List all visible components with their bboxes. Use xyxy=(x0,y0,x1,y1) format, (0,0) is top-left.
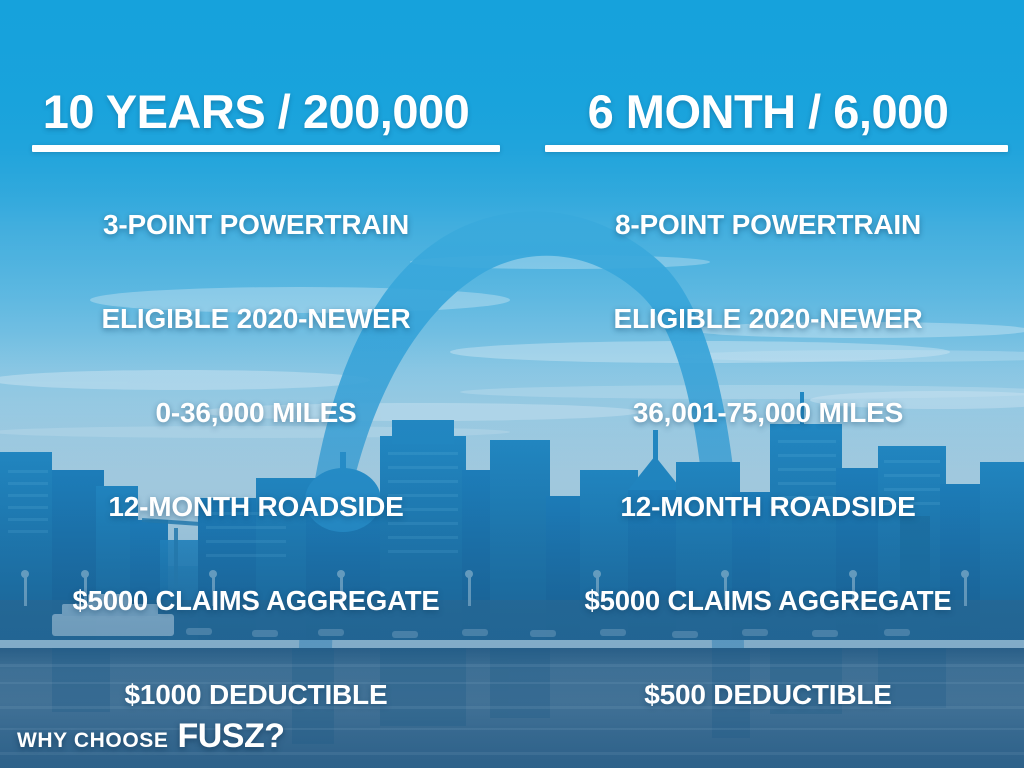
feature-list-right: 8-POINT POWERTRAIN ELIGIBLE 2020-NEWER 3… xyxy=(512,178,1024,742)
feature-list-left: 3-POINT POWERTRAIN ELIGIBLE 2020-NEWER 0… xyxy=(0,178,512,742)
feature-item: 0-36,000 MILES xyxy=(0,366,512,460)
heading-underline-right xyxy=(545,145,1008,152)
feature-item: 36,001-75,000 MILES xyxy=(512,366,1024,460)
feature-item: $5000 CLAIMS AGGREGATE xyxy=(0,554,512,648)
promo-slide: 10 YEARS / 200,000 3-POINT POWERTRAIN EL… xyxy=(0,0,1024,768)
brand-tagline: WHY CHOOSE xyxy=(17,729,168,753)
feature-item: $500 DEDUCTIBLE xyxy=(512,648,1024,742)
heading-underline-left xyxy=(32,145,500,152)
brand-name: FUSZ? xyxy=(177,717,284,756)
feature-item: 3-POINT POWERTRAIN xyxy=(0,178,512,272)
feature-item: 12-MONTH ROADSIDE xyxy=(512,460,1024,554)
feature-item: ELIGIBLE 2020-NEWER xyxy=(0,272,512,366)
feature-item: 12-MONTH ROADSIDE xyxy=(0,460,512,554)
plan-heading-left: 10 YEARS / 200,000 xyxy=(0,88,512,135)
feature-item: 8-POINT POWERTRAIN xyxy=(512,178,1024,272)
feature-item: $5000 CLAIMS AGGREGATE xyxy=(512,554,1024,648)
plan-column-left: 10 YEARS / 200,000 3-POINT POWERTRAIN EL… xyxy=(0,0,512,768)
plan-column-right: 6 MONTH / 6,000 8-POINT POWERTRAIN ELIGI… xyxy=(512,0,1024,768)
brand-lockup: WHY CHOOSE FUSZ? xyxy=(17,717,285,756)
comparison-content: 10 YEARS / 200,000 3-POINT POWERTRAIN EL… xyxy=(0,0,1024,768)
feature-item: ELIGIBLE 2020-NEWER xyxy=(512,272,1024,366)
plan-heading-right: 6 MONTH / 6,000 xyxy=(512,88,1024,135)
